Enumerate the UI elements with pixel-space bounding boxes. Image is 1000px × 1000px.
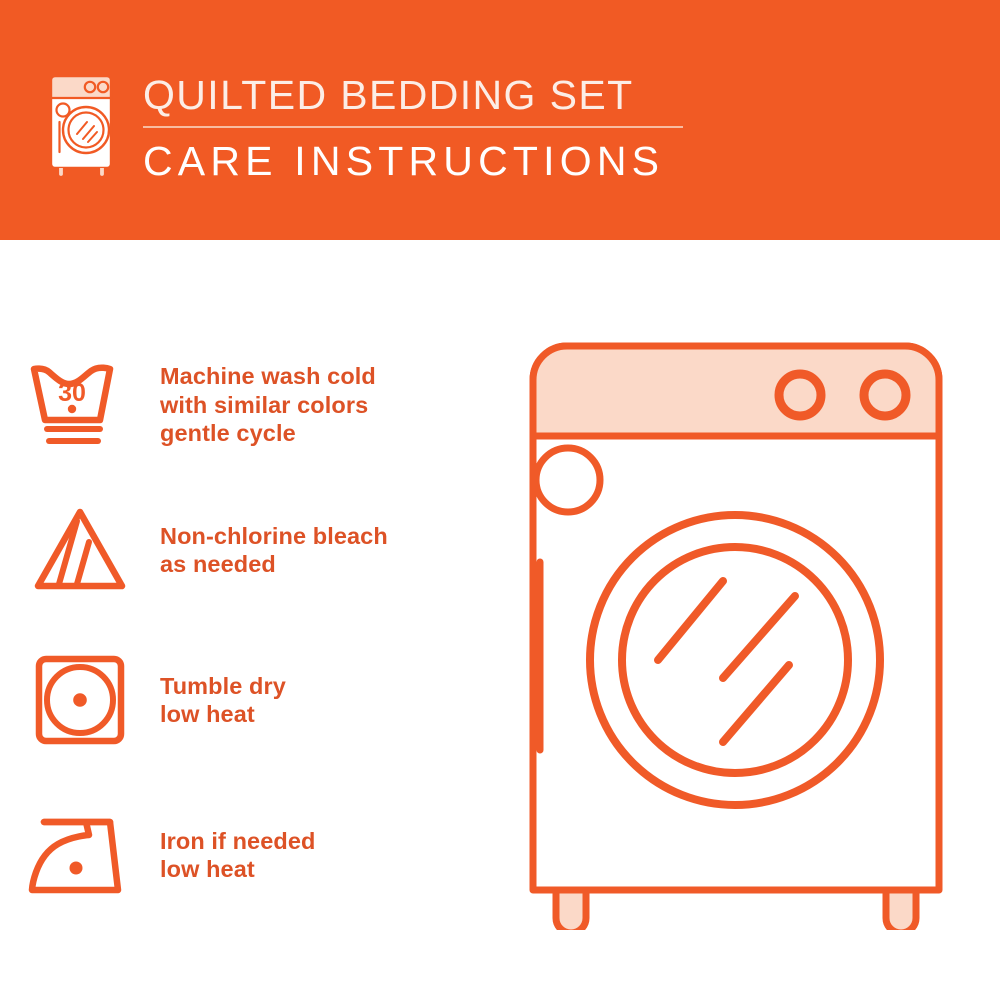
page-title: QUILTED BEDDING SET: [143, 70, 703, 120]
leg-right: [886, 890, 916, 930]
tumble-dry-low-heat-icon: [0, 651, 160, 749]
care-label: Non-chlorine bleach as needed: [160, 522, 388, 579]
care-row: 30 Machine wash cold with similar colors…: [0, 345, 500, 465]
header-text-block: QUILTED BEDDING SET CARE INSTRUCTIONS: [143, 70, 703, 185]
care-label: Iron if needed low heat: [160, 827, 315, 884]
care-label: Tumble dry low heat: [160, 672, 286, 729]
leg-left: [556, 890, 586, 930]
care-row: Iron if needed low heat: [0, 795, 500, 915]
title-divider: [143, 126, 683, 128]
washing-machine-icon: [44, 72, 122, 178]
care-instruction-list: 30 Machine wash cold with similar colors…: [0, 240, 500, 1000]
care-instructions-infographic: QUILTED BEDDING SET CARE INSTRUCTIONS 30…: [0, 0, 1000, 1000]
care-row: Tumble dry low heat: [0, 640, 500, 760]
care-label: Machine wash cold with similar colors ge…: [160, 362, 376, 448]
header-banner: QUILTED BEDDING SET CARE INSTRUCTIONS: [0, 0, 1000, 240]
wash-tub-30-icon: 30: [0, 356, 160, 454]
iron-low-heat-icon: [0, 811, 160, 899]
non-chlorine-bleach-triangle-icon: [0, 504, 160, 596]
care-row: Non-chlorine bleach as needed: [0, 490, 500, 610]
washing-machine-illustration: [495, 330, 975, 930]
wash-temperature-label: 30: [58, 379, 86, 407]
page-subtitle: CARE INSTRUCTIONS: [143, 137, 703, 185]
control-panel: [533, 346, 939, 436]
